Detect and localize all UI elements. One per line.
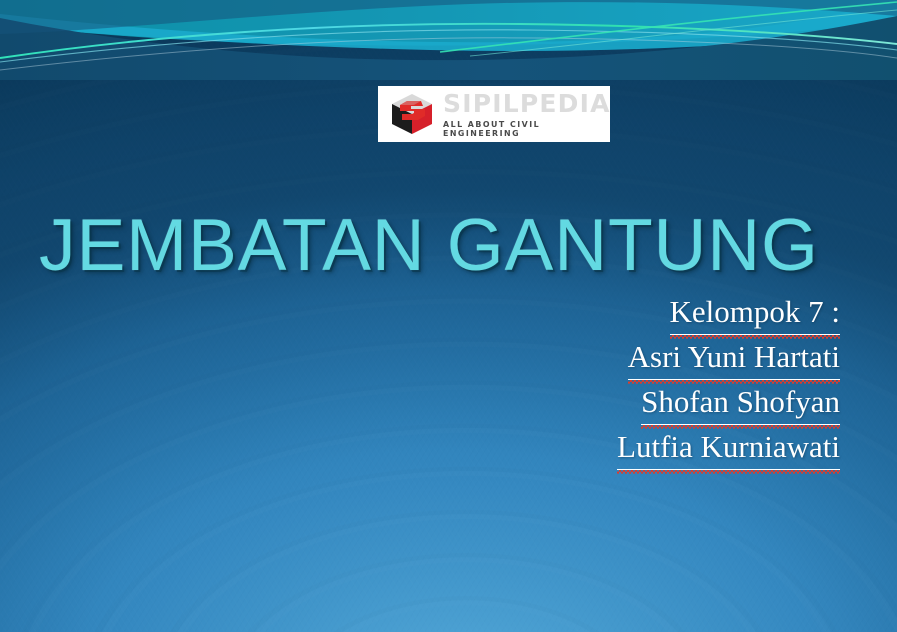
cube-logo-graphic	[390, 93, 434, 135]
subtitle-line: Kelompok 7 :	[617, 292, 840, 335]
sipilpedia-cube-icon	[390, 93, 434, 135]
sipilpedia-logo-box: SIPILPEDIA ALL ABOUT CIVIL ENGINEERING	[378, 86, 610, 142]
subtitle-line-text: Lutfia Kurniawati	[617, 427, 840, 470]
subtitle-line: Asri Yuni Hartati	[617, 337, 840, 380]
slide-title: JEMBATAN GANTUNG	[0, 208, 858, 285]
sipilpedia-wordmark-block: SIPILPEDIA ALL ABOUT CIVIL ENGINEERING	[443, 91, 611, 136]
wave-banner-graphic	[0, 0, 897, 80]
sipilpedia-tagline: ALL ABOUT CIVIL ENGINEERING	[443, 120, 604, 136]
presentation-slide: SIPILPEDIA ALL ABOUT CIVIL ENGINEERING J…	[0, 0, 897, 632]
subtitle-line-text: Shofan Shofyan	[641, 382, 840, 425]
slide-subtitle: Kelompok 7 : Asri Yuni Hartati Shofan Sh…	[617, 292, 840, 472]
subtitle-line-text: Kelompok 7 :	[670, 292, 841, 335]
sipilpedia-wordmark: SIPILPEDIA	[443, 91, 611, 116]
subtitle-line: Lutfia Kurniawati	[617, 427, 840, 470]
subtitle-line: Shofan Shofyan	[617, 382, 840, 425]
top-wave-banner	[0, 0, 897, 80]
subtitle-line-text: Asri Yuni Hartati	[628, 337, 840, 380]
